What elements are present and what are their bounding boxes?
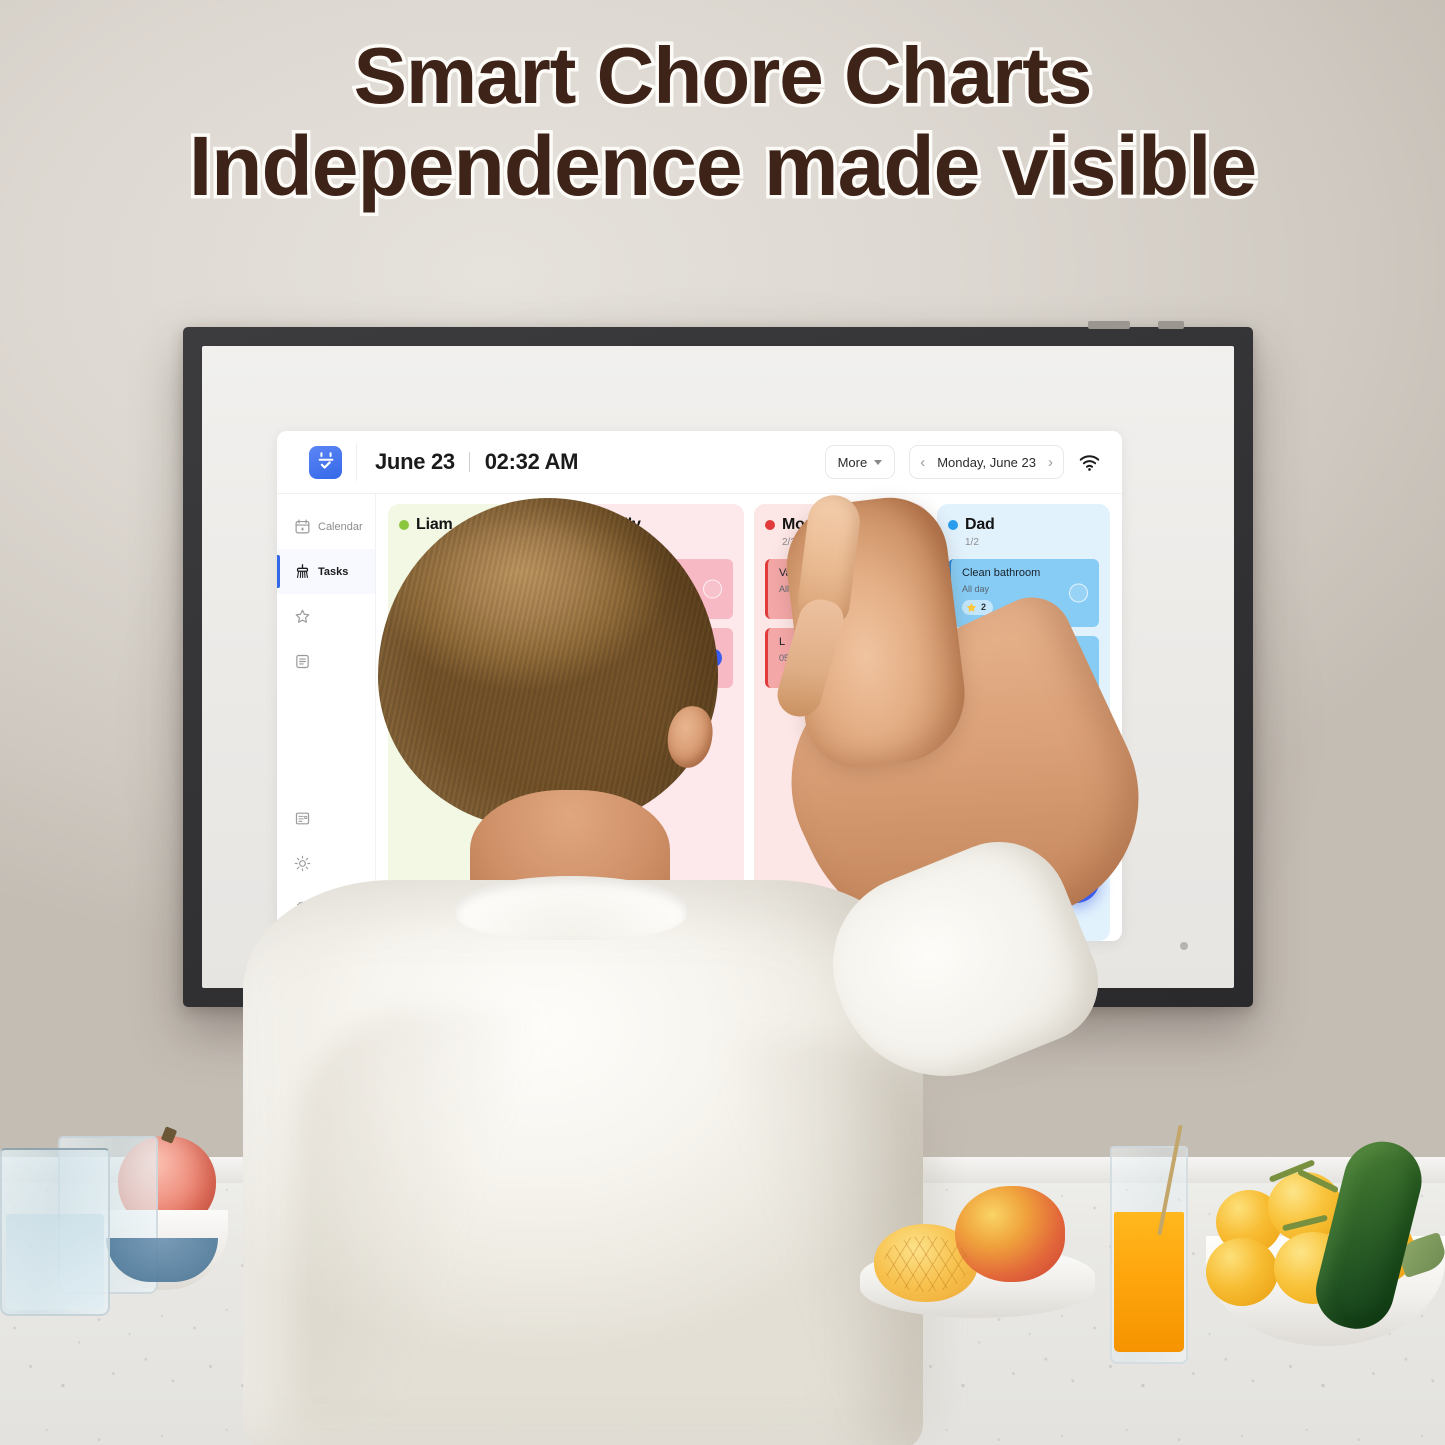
member-dot bbox=[399, 520, 409, 530]
app-logo-icon bbox=[309, 446, 342, 479]
header-date-separator bbox=[469, 452, 470, 472]
sidebar-item-tasks[interactable]: Tasks bbox=[277, 549, 375, 594]
column-progress-count: 1/2 bbox=[965, 537, 1099, 548]
star-icon bbox=[966, 602, 977, 613]
shirt-collar bbox=[455, 876, 687, 940]
column-header: Dad bbox=[948, 516, 1099, 534]
star-icon bbox=[293, 608, 311, 626]
more-button[interactable]: More bbox=[825, 445, 896, 479]
task-checkbox[interactable] bbox=[703, 580, 722, 599]
task-title: Clean bathroom bbox=[962, 567, 1089, 581]
sidebar-item-calendar[interactable]: Calendar bbox=[277, 504, 375, 549]
promo-headline: Smart Chore Charts Independence made vis… bbox=[0, 36, 1445, 208]
header-controls: More ‹ Monday, June 23 › bbox=[825, 445, 1100, 479]
mango-slice-scoring bbox=[884, 1236, 968, 1292]
header-time: 02:32 AM bbox=[485, 449, 578, 474]
date-navigator: ‹ Monday, June 23 › bbox=[909, 445, 1064, 479]
chevron-left-icon[interactable]: ‹ bbox=[920, 455, 925, 470]
sidebar-item-rewards[interactable] bbox=[277, 594, 375, 639]
sidebar-spacer bbox=[277, 684, 375, 796]
header-datetime: June 23 02:32 AM bbox=[375, 449, 578, 475]
shirt-fold bbox=[300, 1010, 600, 1410]
tv-indicator-light bbox=[1180, 942, 1188, 950]
list-icon bbox=[293, 810, 311, 828]
sidebar-item-label: Calendar bbox=[318, 521, 363, 533]
header-divider bbox=[356, 443, 357, 481]
column-member-name: Dad bbox=[965, 516, 995, 534]
member-dot bbox=[765, 520, 775, 530]
selected-day-label: Monday, June 23 bbox=[937, 455, 1036, 470]
calendar-icon bbox=[293, 518, 311, 536]
sidebar-item-brightness[interactable] bbox=[277, 841, 375, 886]
brightness-icon bbox=[293, 855, 311, 873]
header-date: June 23 bbox=[375, 449, 455, 474]
tv-mount-nub bbox=[1088, 321, 1130, 329]
sidebar-item-list[interactable] bbox=[277, 796, 375, 841]
sidebar-item-label: Tasks bbox=[318, 566, 348, 578]
tv-mount-nub bbox=[1158, 321, 1184, 329]
broom-icon bbox=[293, 563, 311, 581]
chevron-right-icon[interactable]: › bbox=[1048, 455, 1053, 470]
headline-line-1: Smart Chore Charts bbox=[0, 36, 1445, 116]
chevron-down-icon bbox=[874, 460, 882, 465]
app-header: June 23 02:32 AM More ‹ Monday, June 23 … bbox=[277, 431, 1122, 494]
orange-juice bbox=[1114, 1212, 1184, 1352]
mango-whole bbox=[955, 1186, 1065, 1282]
room-scene: Smart Chore Charts Independence made vis… bbox=[0, 0, 1445, 1445]
more-button-label: More bbox=[838, 455, 868, 470]
task-checkbox[interactable] bbox=[1069, 583, 1088, 602]
sidebar: Calendar Tasks bbox=[277, 494, 376, 941]
task-star-count: 2 bbox=[981, 602, 986, 612]
yellow-tomato bbox=[1206, 1238, 1278, 1306]
wifi-icon bbox=[1078, 453, 1100, 471]
water-glass-front bbox=[0, 1148, 110, 1316]
member-dot bbox=[948, 520, 958, 530]
headline-line-2: Independence made visible bbox=[0, 124, 1445, 208]
sidebar-item-notes[interactable] bbox=[277, 639, 375, 684]
note-icon bbox=[293, 653, 311, 671]
